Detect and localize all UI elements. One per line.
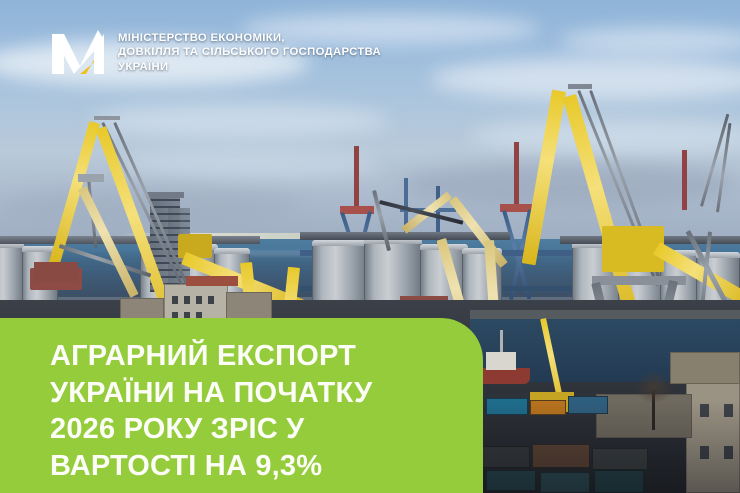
- crane-mast-red: [514, 142, 519, 208]
- headline-line-3: 2026 РОКУ ЗРІС У: [50, 411, 470, 448]
- bare-tree-crown: [632, 372, 676, 402]
- headline: АГРАРНИЙ ЕКСПОРТ УКРАЇНИ НА ПОЧАТКУ 2026…: [50, 338, 470, 484]
- building-window: [208, 296, 214, 304]
- building-window: [172, 296, 178, 304]
- lattice-tower-cap: [146, 192, 184, 198]
- cloud: [90, 104, 390, 138]
- moored-boat-hull: [478, 368, 530, 384]
- news-card: МІНІСТЕРСТВО ЕКОНОМІКИ, ДОВКІЛЛЯ ТА СІЛЬ…: [0, 0, 740, 493]
- ministry-m-logo-icon: [50, 26, 106, 82]
- ministry-name: МІНІСТЕРСТВО ЕКОНОМІКИ, ДОВКІЛЛЯ ТА СІЛЬ…: [118, 26, 381, 74]
- ministry-name-line-2: ДОВКІЛЛЯ ТА СІЛЬСЬКОГО ГОСПОДАРСТВА: [118, 45, 381, 59]
- cloud: [120, 150, 380, 180]
- crane-mast-red: [682, 150, 687, 210]
- crane-top-platform: [94, 116, 120, 120]
- crane-head: [78, 174, 104, 182]
- red-roof-shed: [186, 276, 238, 286]
- building-window: [184, 296, 190, 304]
- crane-top-platform: [568, 84, 592, 89]
- headline-banner: АГРАРНИЙ ЕКСПОРТ УКРАЇНИ НА ПОЧАТКУ 2026…: [0, 318, 483, 493]
- headline-line-4: ВАРТОСТІ НА 9,3%: [50, 448, 470, 485]
- crane-counterweight: [34, 262, 78, 282]
- conveyor-gallery: [0, 236, 260, 244]
- building-window: [196, 296, 202, 304]
- ministry-name-line-1: МІНІСТЕРСТВО ЕКОНОМІКИ,: [118, 31, 381, 45]
- headline-line-2: УКРАЇНИ НА ПОЧАТКУ: [50, 375, 470, 412]
- quay-wall: [470, 310, 740, 319]
- ministry-name-line-3: УКРАЇНИ: [118, 60, 381, 74]
- ministry-logo-block: МІНІСТЕРСТВО ЕКОНОМІКИ, ДОВКІЛЛЯ ТА СІЛЬ…: [50, 26, 381, 82]
- headline-line-1: АГРАРНИЙ ЕКСПОРТ: [50, 338, 470, 375]
- crane-mast-red: [354, 146, 359, 208]
- moored-boat-cabin: [486, 352, 516, 370]
- dockside-warehouse: [670, 352, 740, 384]
- moored-boat-mast: [500, 330, 503, 352]
- crane-machinery-house: [178, 234, 212, 258]
